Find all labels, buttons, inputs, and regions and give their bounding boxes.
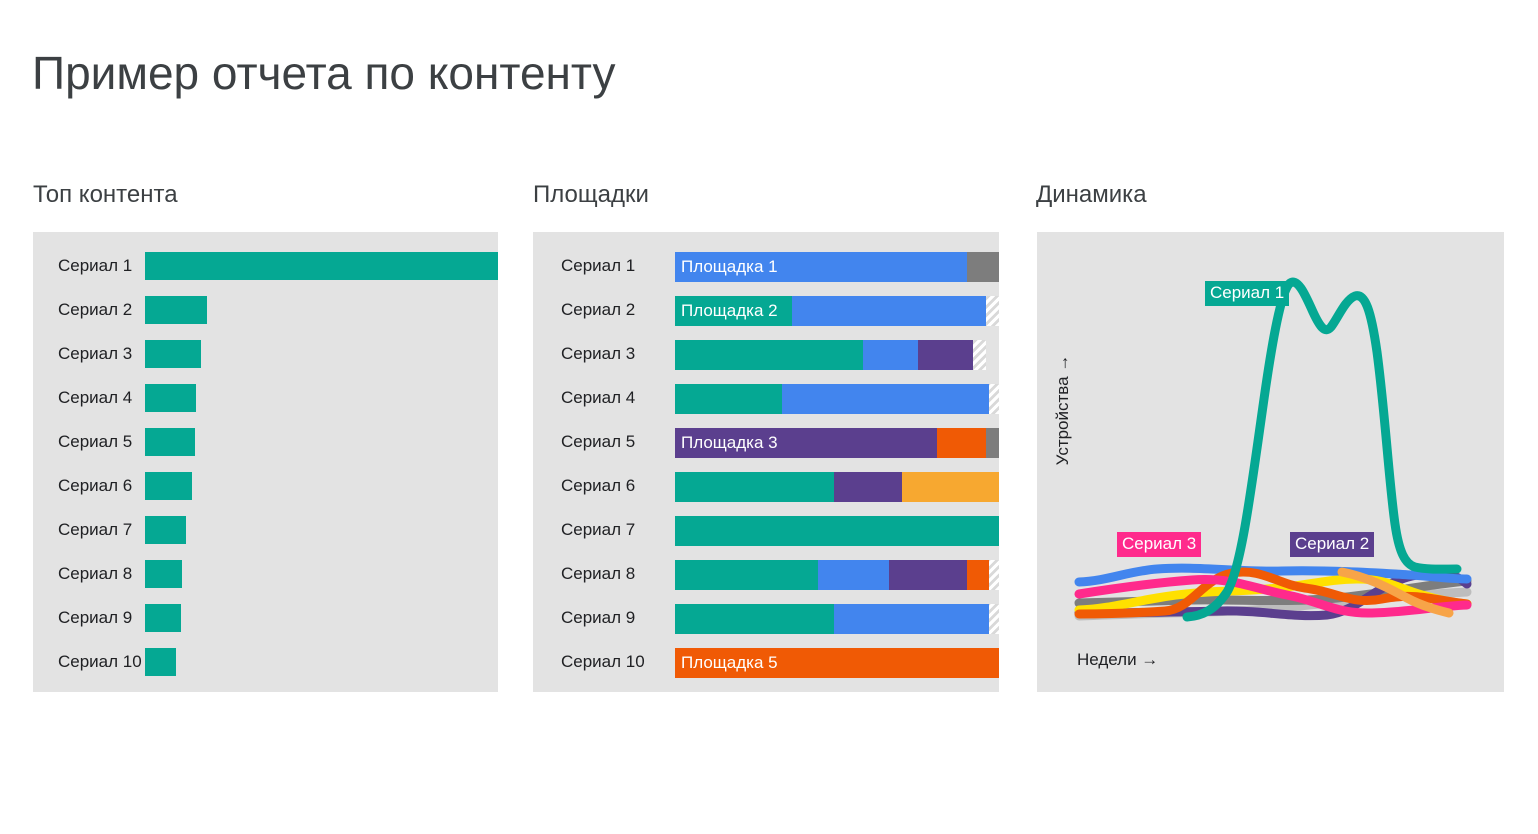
bar-segment: Площадка 1 [675, 252, 967, 282]
row-label: Сериал 6 [533, 476, 675, 496]
bar [145, 472, 192, 500]
bar-track: Площадка 5 [675, 648, 999, 676]
bar-segment-label: Площадка 3 [681, 433, 778, 453]
table-row: Сериал 3 [533, 332, 999, 376]
bar-segment [782, 384, 989, 414]
table-row: Сериал 10 [33, 640, 498, 684]
bar-segment-label: Площадка 2 [681, 301, 778, 321]
stacked-bar [675, 384, 993, 414]
bar-segment [834, 472, 902, 502]
bar-track [145, 384, 498, 412]
bar-segment [902, 472, 999, 502]
row-label: Сериал 6 [33, 476, 145, 496]
stacked-bar [675, 516, 999, 546]
row-label: Сериал 9 [33, 608, 145, 628]
bar-segment [989, 384, 999, 414]
stacked-bar: Площадка 2 [675, 296, 996, 326]
panel-title-platforms: Площадки [533, 181, 649, 209]
table-row: Сериал 8 [533, 552, 999, 596]
bar-segment [675, 472, 834, 502]
bar [145, 296, 207, 324]
bar-segment [986, 428, 999, 458]
bar [145, 428, 195, 456]
row-label: Сериал 3 [33, 344, 145, 364]
bar-segment: Площадка 3 [675, 428, 937, 458]
row-label: Сериал 4 [533, 388, 675, 408]
bar-segment [986, 296, 999, 326]
bar-track [145, 648, 498, 676]
panel-top-content: Сериал 1Сериал 2Сериал 3Сериал 4Сериал 5… [33, 232, 498, 692]
bar [145, 252, 498, 280]
table-row: Сериал 1Площадка 1 [533, 244, 999, 288]
x-axis-label: Недели → [1077, 650, 1158, 670]
table-row: Сериал 1 [33, 244, 498, 288]
row-label: Сериал 5 [33, 432, 145, 452]
table-row: Сериал 9 [33, 596, 498, 640]
row-label: Сериал 7 [533, 520, 675, 540]
bar-segment [937, 428, 986, 458]
bar-segment [973, 340, 986, 370]
bar-segment: Площадка 5 [675, 648, 999, 678]
table-row: Сериал 2 [33, 288, 498, 332]
bar-track [675, 516, 999, 544]
bar-track [145, 340, 498, 368]
y-axis-label: Устройства → [1053, 340, 1073, 480]
panel-title-dynamics: Динамика [1036, 181, 1147, 209]
table-row: Сериал 10Площадка 5 [533, 640, 999, 684]
row-label: Сериал 10 [33, 652, 145, 672]
bar [145, 648, 176, 676]
table-row: Сериал 4 [33, 376, 498, 420]
bar-track [675, 604, 999, 632]
row-label: Сериал 7 [33, 520, 145, 540]
row-label: Сериал 10 [533, 652, 675, 672]
table-row: Сериал 7 [33, 508, 498, 552]
bar-segment [818, 560, 889, 590]
bar-track [145, 516, 498, 544]
bar-track: Площадка 3 [675, 428, 999, 456]
bar-segment-label: Площадка 1 [681, 257, 778, 277]
row-label: Сериал 5 [533, 432, 675, 452]
table-row: Сериал 5Площадка 3 [533, 420, 999, 464]
stacked-bar [675, 604, 999, 634]
bar-track [145, 604, 498, 632]
bar-track [145, 560, 498, 588]
panel-platforms: Сериал 1Площадка 1Сериал 2Площадка 2Сери… [533, 232, 999, 692]
row-label: Сериал 2 [533, 300, 675, 320]
bar [145, 516, 186, 544]
table-row: Сериал 9 [533, 596, 999, 640]
row-label: Сериал 3 [533, 344, 675, 364]
bar-track [675, 340, 999, 368]
bar-track [675, 560, 999, 588]
bar-segment [792, 296, 986, 326]
table-row: Сериал 5 [33, 420, 498, 464]
bar-segment [675, 516, 999, 546]
bar [145, 384, 196, 412]
bar-track [675, 384, 999, 412]
page-title: Пример отчета по контенту [32, 46, 616, 100]
row-label: Сериал 8 [33, 564, 145, 584]
bar-segment [889, 560, 967, 590]
series-label-serial-3: Сериал 3 [1117, 532, 1201, 557]
bar [145, 340, 201, 368]
stacked-bar: Площадка 1 [675, 252, 999, 282]
row-label: Сериал 9 [533, 608, 675, 628]
bar [145, 604, 181, 632]
bar-track [675, 472, 999, 500]
stacked-bar [675, 472, 999, 502]
bar-segment [918, 340, 973, 370]
bar-track: Площадка 1 [675, 252, 999, 280]
bar-segment [834, 604, 990, 634]
bar-segment [967, 560, 990, 590]
bar-segment-label: Площадка 5 [681, 653, 778, 673]
stacked-bar: Площадка 5 [675, 648, 999, 678]
bar-track [145, 472, 498, 500]
bar-segment [989, 604, 999, 634]
table-row: Сериал 6 [533, 464, 999, 508]
table-row: Сериал 2Площадка 2 [533, 288, 999, 332]
bar-segment [675, 560, 818, 590]
panel-dynamics: Сериал 1 Сериал 2 Сериал 3 Недели → Устр… [1037, 232, 1504, 692]
panel-title-top-content: Топ контента [33, 181, 178, 209]
bar-segment [863, 340, 918, 370]
table-row: Сериал 6 [33, 464, 498, 508]
bar-track [145, 296, 498, 324]
bar-segment: Площадка 2 [675, 296, 792, 326]
series-label-serial-2: Сериал 2 [1290, 532, 1374, 557]
bar-track [145, 252, 498, 280]
bar-segment [989, 560, 999, 590]
bar-segment [675, 604, 834, 634]
bar-track: Площадка 2 [675, 296, 999, 324]
row-label: Сериал 1 [533, 256, 675, 276]
row-label: Сериал 1 [33, 256, 145, 276]
table-row: Сериал 8 [33, 552, 498, 596]
bar-track [145, 428, 498, 456]
stacked-bar [675, 560, 999, 590]
row-label: Сериал 4 [33, 388, 145, 408]
series-label-serial-1: Сериал 1 [1205, 281, 1289, 306]
row-label: Сериал 8 [533, 564, 675, 584]
stacked-bar [675, 340, 986, 370]
stacked-bar: Площадка 3 [675, 428, 999, 458]
table-row: Сериал 3 [33, 332, 498, 376]
bar-segment [967, 252, 999, 282]
table-row: Сериал 7 [533, 508, 999, 552]
table-row: Сериал 4 [533, 376, 999, 420]
row-label: Сериал 2 [33, 300, 145, 320]
bar-segment [675, 340, 863, 370]
report-page: Пример отчета по контенту Топ контента С… [0, 0, 1538, 834]
bar-segment [675, 384, 782, 414]
bar [145, 560, 182, 588]
